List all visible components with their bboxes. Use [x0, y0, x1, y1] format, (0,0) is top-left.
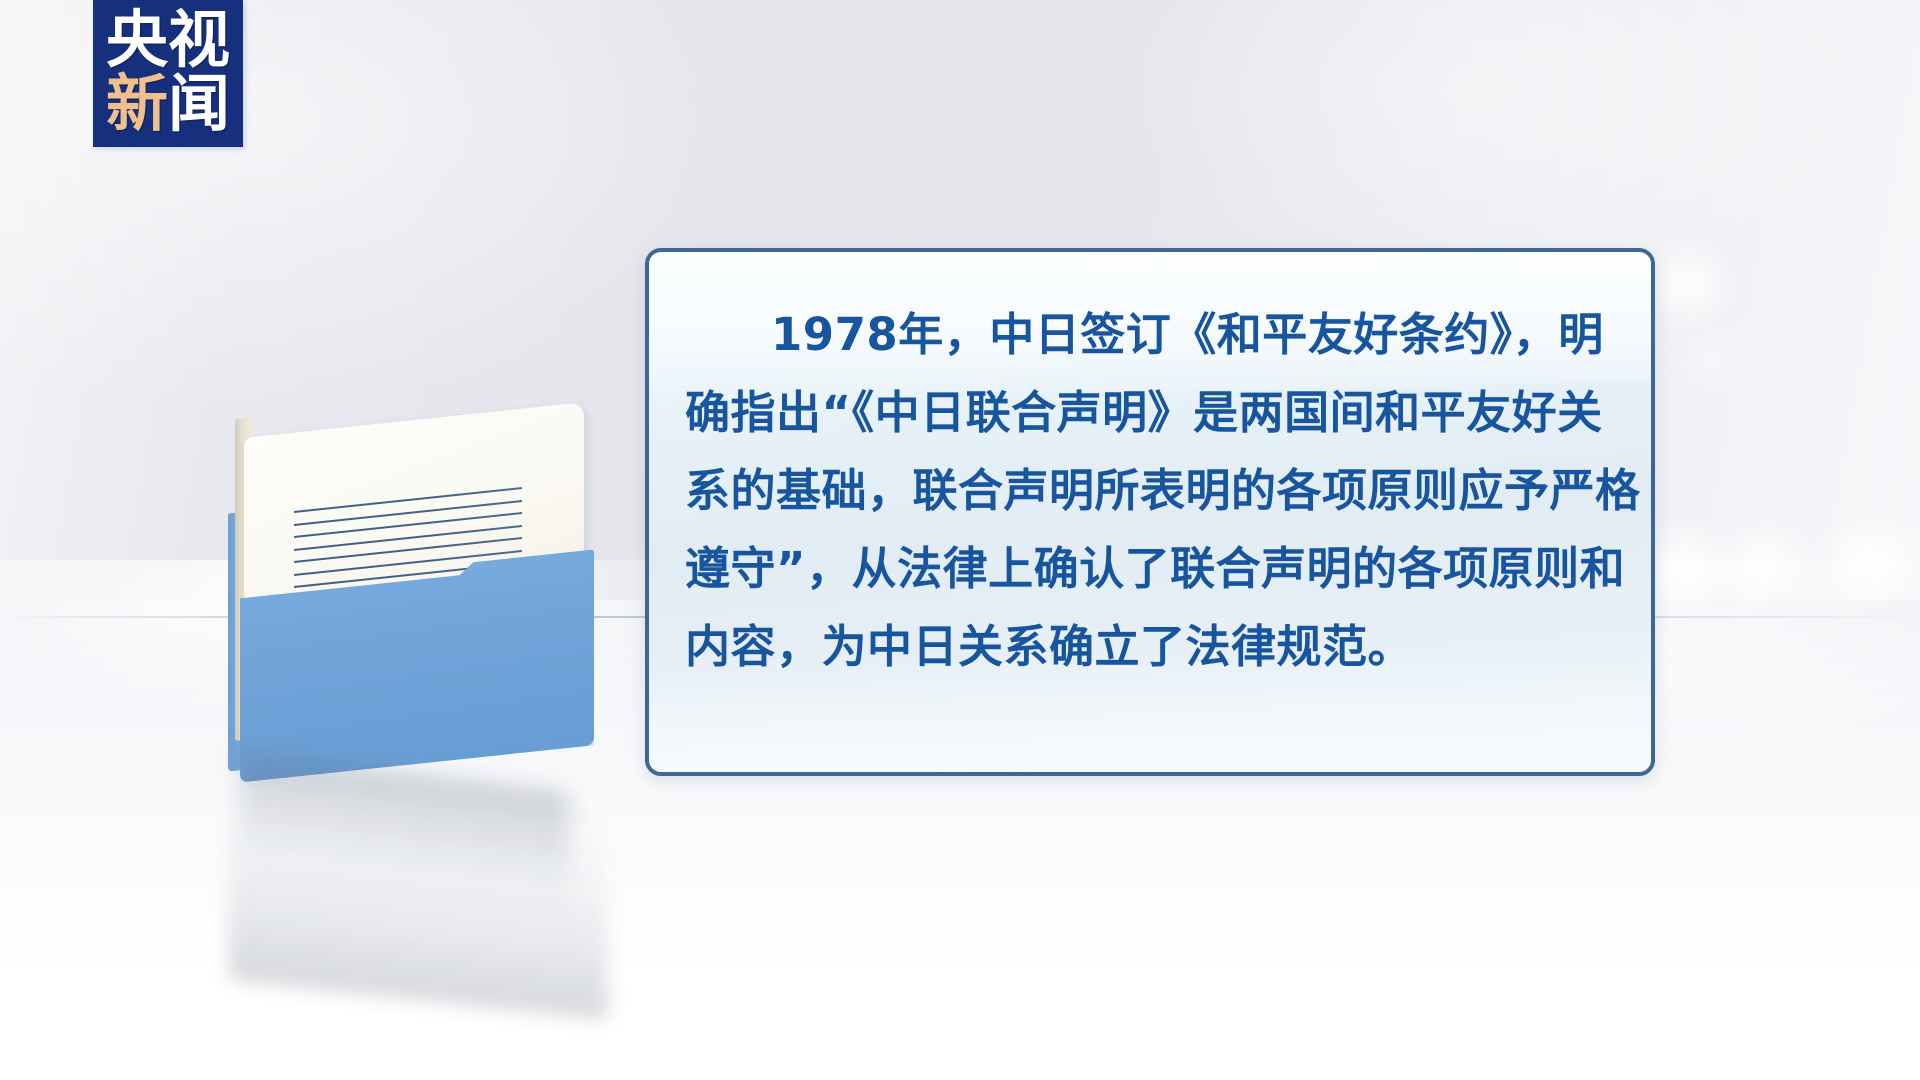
folder-rule-line [294, 537, 522, 563]
logo-text-xin: 新 [106, 75, 168, 136]
background-light-blur [1830, 530, 1908, 592]
background-light-blur [1725, 535, 1799, 593]
panel-text-line: 遵守”，从法律上确认了联合声明的各项原则和 [685, 530, 1613, 608]
logo-line-top: 央视 [106, 11, 230, 72]
panel-text-line: 内容，为中日关系确立了法律规范。 [685, 608, 1613, 686]
panel-text-line: 系的基础，联合声明所表明的各项原则应予严格 [685, 452, 1613, 530]
panel-text-line: 1978年，中日签订《和平友好条约》，明 [685, 296, 1613, 374]
logo-text-wen: 闻 [168, 75, 230, 136]
quote-panel: 1978年，中日签订《和平友好条约》，明确指出“《中日联合声明》是两国间和平友好… [645, 248, 1655, 776]
background-light-blur [1650, 535, 1720, 595]
panel-body-text: 1978年，中日签订《和平友好条约》，明确指出“《中日联合声明》是两国间和平友好… [649, 252, 1651, 686]
logo-line-bottom: 新 闻 [106, 75, 230, 136]
document-folder-icon [222, 392, 612, 782]
news-graphic-stage: 央视 新 闻 1978年，中日签订《和平友好条约》，明确指出“《中日联合声明》是… [0, 0, 1920, 1080]
background-light-blur [1690, 345, 1734, 375]
panel-text-line: 确指出“《中日联合声明》是两国间和平友好关 [685, 374, 1613, 452]
logo-text-yangshi: 央视 [106, 11, 230, 72]
cctv-news-logo: 央视 新 闻 [93, 0, 243, 147]
folder-rule-line [294, 512, 522, 538]
background-light-blur [1655, 255, 1719, 313]
folder-rule-line [294, 525, 522, 551]
